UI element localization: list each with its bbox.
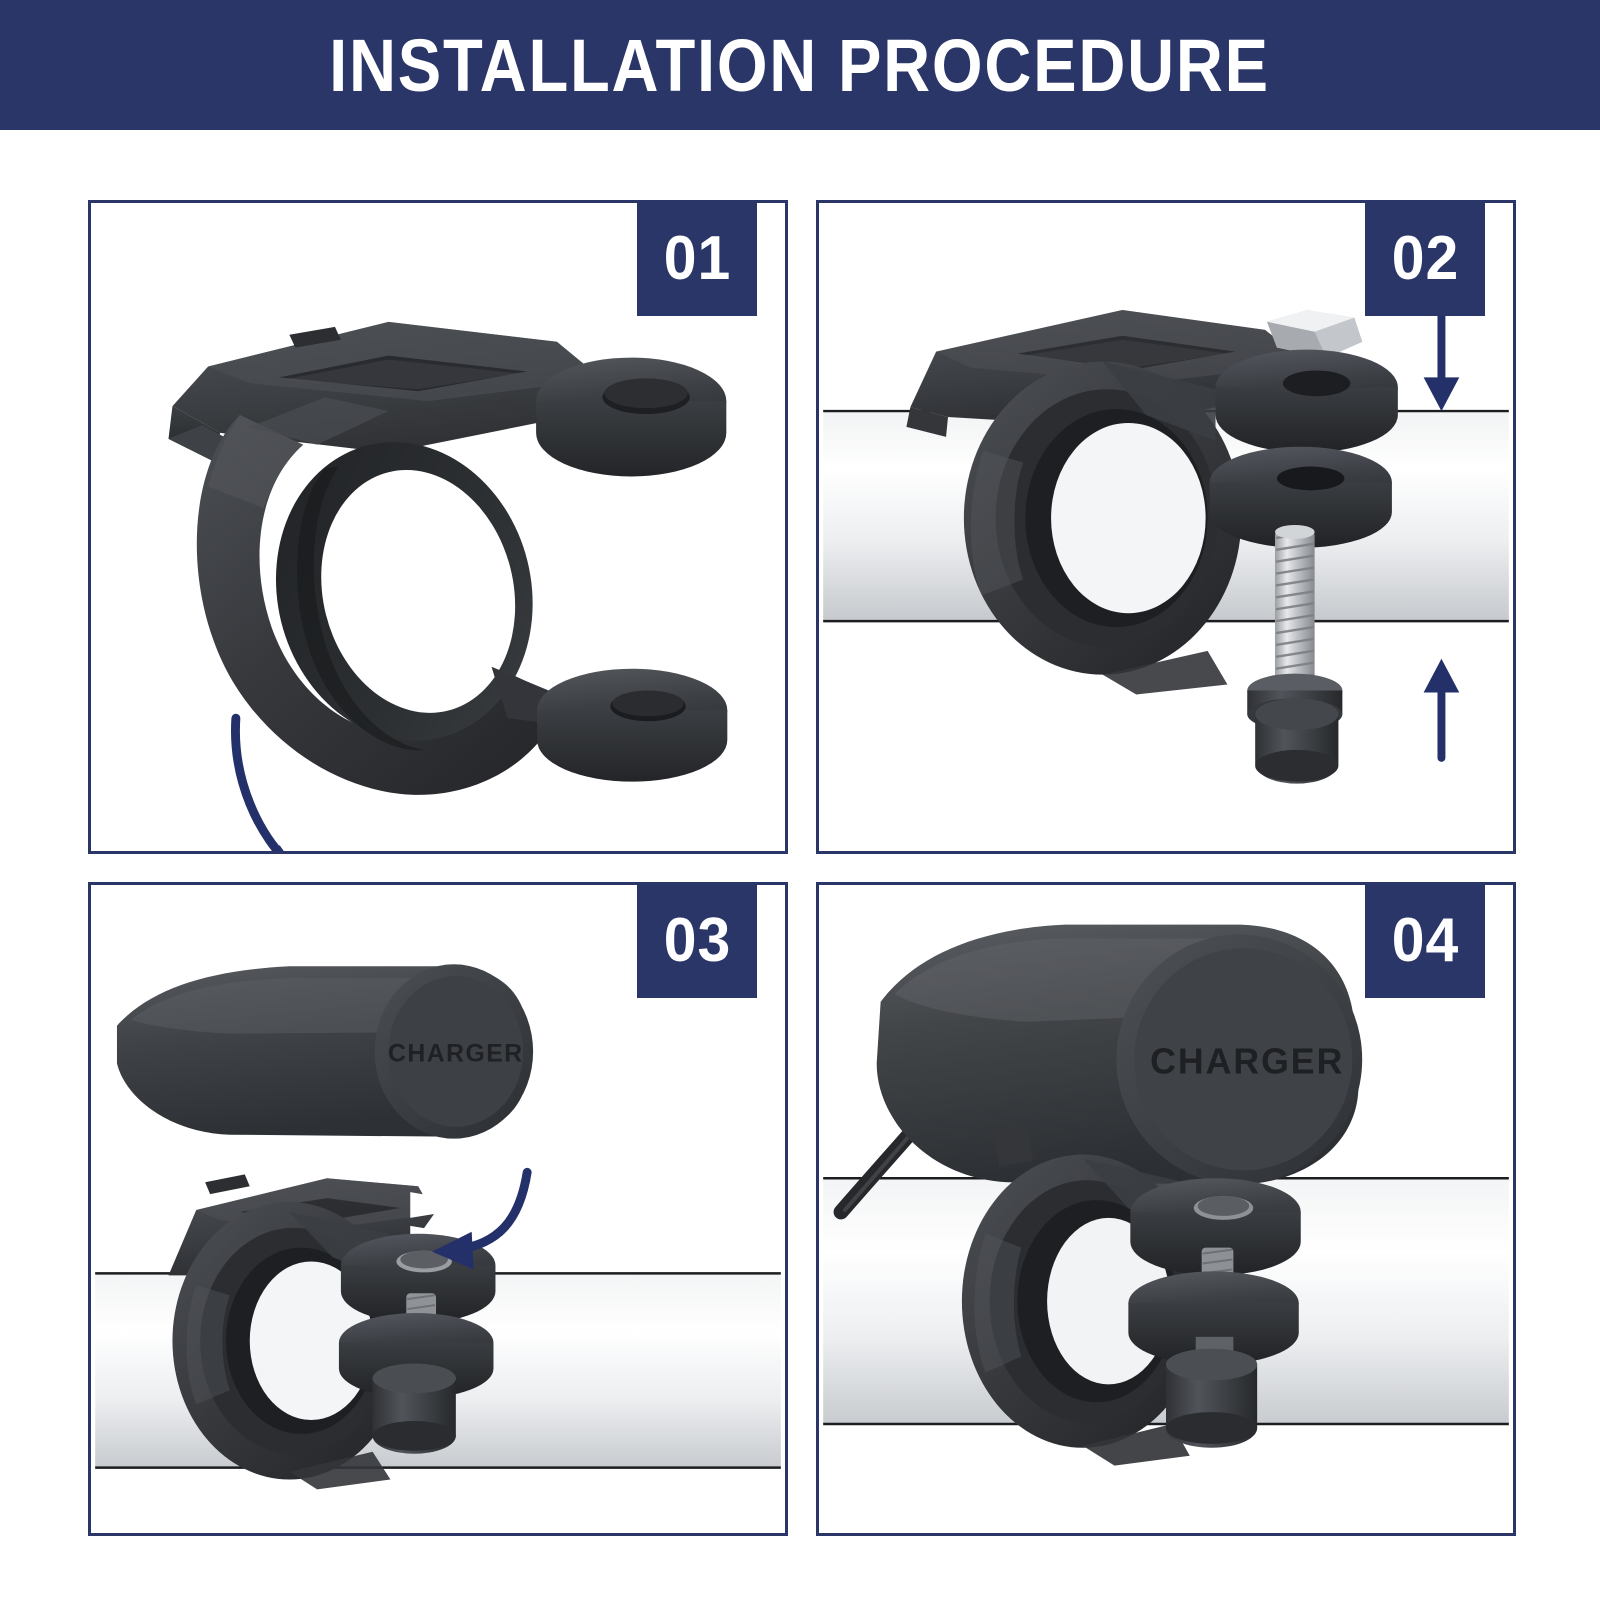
knurled-knob: [1166, 1337, 1257, 1448]
step-number-01: 01: [663, 223, 730, 294]
installation-procedure-page: INSTALLATION PROCEDURE: [0, 0, 1600, 1600]
bolt-flange-upper: [1216, 350, 1398, 453]
knurled-knob: [1247, 674, 1342, 784]
charger-body: CHARGER: [877, 925, 1363, 1185]
step-badge-03: 03: [637, 882, 757, 998]
page-title: INSTALLATION PROCEDURE: [330, 23, 1271, 108]
push-down-arrow-icon: [1424, 314, 1460, 411]
step-badge-04: 04: [1365, 882, 1485, 998]
step-badge-01: 01: [637, 200, 757, 316]
step-panel-03: CHARGER: [88, 882, 788, 1536]
step-number-03: 03: [663, 905, 730, 976]
charger-emboss-label: CHARGER: [1150, 1041, 1344, 1081]
page-header: INSTALLATION PROCEDURE: [0, 0, 1600, 130]
push-up-arrow-icon: [1424, 659, 1460, 758]
charger-emboss-label: CHARGER: [388, 1040, 524, 1067]
step-panel-04: CHARGER: [816, 882, 1516, 1536]
charger-body: CHARGER: [117, 964, 533, 1138]
step-number-02: 02: [1391, 223, 1458, 294]
steps-grid: 01: [0, 130, 1600, 1600]
step-number-04: 04: [1391, 905, 1458, 976]
threaded-screw: [1275, 525, 1315, 688]
knurled-knob: [373, 1364, 456, 1454]
step-badge-02: 02: [1365, 200, 1485, 316]
clamp-ring: [197, 397, 564, 795]
clamp-ring: [964, 362, 1241, 695]
step-panel-01: 01: [88, 200, 788, 854]
bolt-flange-upper: [536, 358, 726, 477]
step-panel-02: 02: [816, 200, 1516, 854]
